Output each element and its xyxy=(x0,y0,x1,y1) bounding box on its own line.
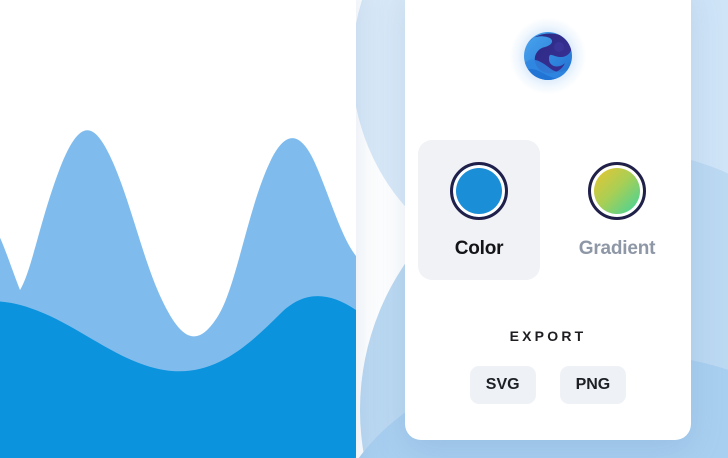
export-png-button[interactable]: PNG xyxy=(560,366,627,404)
mode-selector: Color Gradient xyxy=(405,140,691,280)
control-panel: Color Gradient EXPORT SVG PNG xyxy=(405,0,691,440)
gradient-swatch-icon[interactable] xyxy=(588,162,646,220)
app-root: Color Gradient EXPORT SVG PNG xyxy=(0,0,728,458)
mode-option-color[interactable]: Color xyxy=(418,140,540,280)
front-wave-shape xyxy=(0,296,356,458)
mode-label-gradient: Gradient xyxy=(579,238,656,260)
app-logo[interactable] xyxy=(510,18,586,94)
export-button-group: SVG PNG xyxy=(470,366,626,404)
mode-label-color: Color xyxy=(455,238,504,260)
wave-circle-logo-icon xyxy=(521,29,575,83)
solid-color-swatch-icon[interactable] xyxy=(450,162,508,220)
export-svg-button[interactable]: SVG xyxy=(470,366,536,404)
wave-preview-canvas[interactable] xyxy=(0,0,356,458)
mode-option-gradient[interactable]: Gradient xyxy=(556,140,678,280)
wave-illustration xyxy=(0,0,356,458)
export-section-title: EXPORT xyxy=(510,328,587,344)
